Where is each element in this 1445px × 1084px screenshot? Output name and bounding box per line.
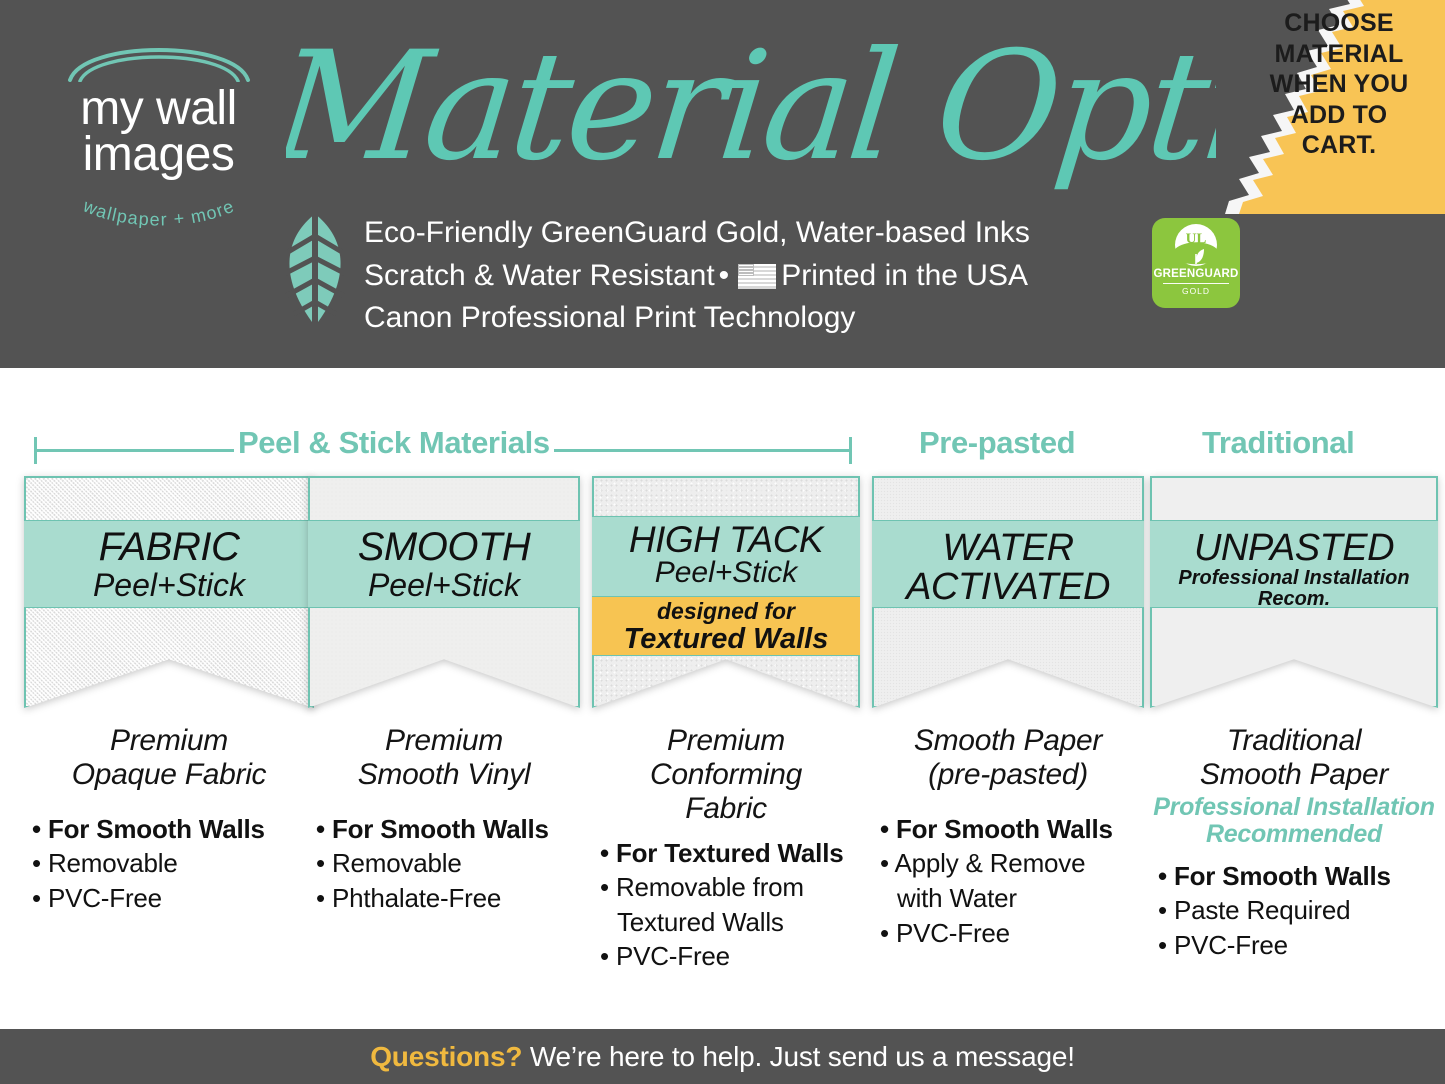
material-accent-note: Professional Installation Recommended xyxy=(1150,794,1438,849)
banner-label-band: SMOOTH Peel+Stick xyxy=(308,520,580,608)
logo-line-1: my wall xyxy=(36,86,281,132)
accent-line-1: Professional Installation xyxy=(1150,794,1438,822)
choose-material-badge[interactable]: CHOOSE MATERIAL WHEN YOU ADD TO CART. xyxy=(1225,0,1445,214)
badge-text: CHOOSE MATERIAL WHEN YOU ADD TO CART. xyxy=(1251,8,1427,161)
feature-separator: • xyxy=(715,259,734,292)
usa-flag-icon xyxy=(738,264,776,289)
highlight-line-1: designed for xyxy=(592,599,860,624)
logo-arc-icon xyxy=(64,30,254,82)
desc-line-3: Fabric xyxy=(592,792,860,826)
list-item: Phthalate-Free xyxy=(316,881,580,916)
list-item: PVC-Free xyxy=(32,881,314,916)
banner-title: SMOOTH xyxy=(308,527,580,568)
list-item: For Smooth Walls xyxy=(316,812,580,847)
logo-tagline: wallpaper + more xyxy=(44,182,274,228)
badge-line-2: WHEN YOU xyxy=(1251,69,1427,100)
material-card-fabric[interactable]: FABRIC Peel+Stick Premium Opaque Fabric … xyxy=(24,476,314,974)
footer-help-text: We’re here to help. Just send us a messa… xyxy=(522,1041,1075,1072)
feature-line-1: Eco-Friendly GreenGuard Gold, Water-base… xyxy=(364,212,1030,255)
desc-line-1: Smooth Paper xyxy=(872,724,1144,758)
banner-subtitle: Peel+Stick xyxy=(592,557,860,589)
features-block: Eco-Friendly GreenGuard Gold, Water-base… xyxy=(276,212,1030,340)
list-item: Textured Walls xyxy=(600,905,860,940)
list-item: For Smooth Walls xyxy=(880,812,1144,847)
list-item: Removable from xyxy=(600,870,860,905)
banner-label-band: WATER ACTIVATED xyxy=(872,520,1144,608)
banner-title: WATER ACTIVATED xyxy=(872,529,1144,607)
category-peel-and-stick: Peel & Stick Materials xyxy=(234,425,554,461)
desc-line-2: Smooth Vinyl xyxy=(308,758,580,792)
material-features-list: For Textured Walls Removable from Textur… xyxy=(592,836,860,974)
banner-unpasted: UNPASTED Professional Installation Recom… xyxy=(1150,476,1438,708)
banner-subtitle: Peel+Stick xyxy=(24,569,314,603)
category-traditional: Traditional xyxy=(1202,425,1354,461)
logo-line-2: images xyxy=(36,132,281,178)
desc-line-1: Premium xyxy=(592,724,860,758)
ul-greenguard-icon: UL xyxy=(1171,223,1221,269)
list-item: Apply & Remove xyxy=(880,846,1144,881)
header-banner: my wall images wallpaper + more Material… xyxy=(0,0,1445,368)
banner-subtitle: Peel+Stick xyxy=(308,569,580,603)
material-description: Smooth Paper (pre-pasted) xyxy=(872,724,1144,792)
material-features-list: For Smooth Walls Paste Required PVC-Free xyxy=(1150,859,1438,963)
banner-title: HIGH TACK xyxy=(592,521,860,559)
material-description: Premium Opaque Fabric xyxy=(24,724,314,792)
banner-highlight-band: designed for Textured Walls xyxy=(592,596,860,656)
banner-title: UNPASTED xyxy=(1150,529,1438,568)
material-features-list: For Smooth Walls Removable Phthalate-Fre… xyxy=(308,812,580,916)
banner-smooth: SMOOTH Peel+Stick xyxy=(308,476,580,708)
list-item: Paste Required xyxy=(1158,893,1438,928)
badge-line-3: ADD TO xyxy=(1251,100,1427,131)
list-item: PVC-Free xyxy=(600,939,860,974)
list-item: Removable xyxy=(32,846,314,881)
greenguard-divider xyxy=(1163,283,1229,284)
badge-line-0: CHOOSE xyxy=(1251,8,1427,39)
banner-title: FABRIC xyxy=(24,527,314,568)
material-card-water-activated[interactable]: WATER ACTIVATED Smooth Paper (pre-pasted… xyxy=(872,476,1144,974)
badge-line-4: CART. xyxy=(1251,130,1427,161)
desc-line-1: Traditional xyxy=(1150,724,1438,758)
feature-line-2b: Printed in the USA xyxy=(781,259,1028,292)
feature-line-2: Scratch & Water Resistant• Printed in th… xyxy=(364,255,1030,298)
banner-label-band: UNPASTED Professional Installation Recom… xyxy=(1150,520,1438,608)
banner-fabric: FABRIC Peel+Stick xyxy=(24,476,314,708)
banner-high-tack: HIGH TACK Peel+Stick designed for Textur… xyxy=(592,476,860,708)
material-card-smooth[interactable]: SMOOTH Peel+Stick Premium Smooth Vinyl F… xyxy=(308,476,580,974)
banner-label-band: HIGH TACK Peel+Stick xyxy=(592,516,860,596)
materials-section: Peel & Stick Materials Pre-pasted Tradit… xyxy=(0,368,1445,1029)
list-item: PVC-Free xyxy=(880,916,1144,951)
greenguard-gold-badge: UL GREENGUARD GOLD xyxy=(1152,218,1240,308)
accent-line-2: Recommended xyxy=(1150,821,1438,849)
desc-line-1: Premium xyxy=(308,724,580,758)
svg-text:UL: UL xyxy=(1186,231,1207,247)
svg-text:Material Options: Material Options xyxy=(286,19,1216,194)
desc-line-2: Conforming xyxy=(592,758,860,792)
banner-subtitle: Professional Installation Recom. xyxy=(1150,568,1438,610)
feature-line-3: Canon Professional Print Technology xyxy=(364,297,1030,340)
desc-line-1: Premium xyxy=(24,724,314,758)
category-pre-pasted: Pre-pasted xyxy=(919,425,1075,461)
list-item: with Water xyxy=(880,881,1144,916)
banner-label-band: FABRIC Peel+Stick xyxy=(24,520,314,608)
category-headers: Peel & Stick Materials Pre-pasted Tradit… xyxy=(0,423,1445,467)
feature-line-2a: Scratch & Water Resistant xyxy=(364,259,715,292)
footer-message: Questions? We’re here to help. Just send… xyxy=(370,1041,1075,1073)
material-features-list: For Smooth Walls Removable PVC-Free xyxy=(24,812,314,916)
highlight-line-2: Textured Walls xyxy=(592,624,860,655)
desc-line-2: Smooth Paper xyxy=(1150,758,1438,792)
svg-text:wallpaper + more: wallpaper + more xyxy=(79,195,237,228)
list-item: PVC-Free xyxy=(1158,928,1438,963)
material-features-list: For Smooth Walls Apply & Remove with Wat… xyxy=(872,812,1144,950)
page-title: Material Options xyxy=(286,18,1216,203)
material-card-high-tack[interactable]: HIGH TACK Peel+Stick designed for Textur… xyxy=(592,476,860,974)
footer-questions-label: Questions? xyxy=(370,1041,522,1072)
desc-line-2: (pre-pasted) xyxy=(872,758,1144,792)
list-item: Removable xyxy=(316,846,580,881)
banner-water-activated: WATER ACTIVATED xyxy=(872,476,1144,708)
list-item: For Textured Walls xyxy=(600,836,860,871)
material-description: Premium Smooth Vinyl xyxy=(308,724,580,792)
list-item: For Smooth Walls xyxy=(1158,859,1438,894)
material-description: Premium Conforming Fabric xyxy=(592,724,860,826)
desc-line-2: Opaque Fabric xyxy=(24,758,314,792)
footer-bar[interactable]: Questions? We’re here to help. Just send… xyxy=(0,1029,1445,1084)
greenguard-word: GREENGUARD xyxy=(1152,268,1240,280)
list-item: For Smooth Walls xyxy=(32,812,314,847)
brand-logo[interactable]: my wall images wallpaper + more xyxy=(36,30,281,228)
leaf-icon xyxy=(276,212,354,328)
material-columns: FABRIC Peel+Stick Premium Opaque Fabric … xyxy=(0,476,1445,974)
badge-line-1: MATERIAL xyxy=(1251,39,1427,70)
greenguard-level: GOLD xyxy=(1152,286,1240,296)
material-card-unpasted[interactable]: UNPASTED Professional Installation Recom… xyxy=(1150,476,1438,974)
material-description: Traditional Smooth Paper xyxy=(1150,724,1438,792)
